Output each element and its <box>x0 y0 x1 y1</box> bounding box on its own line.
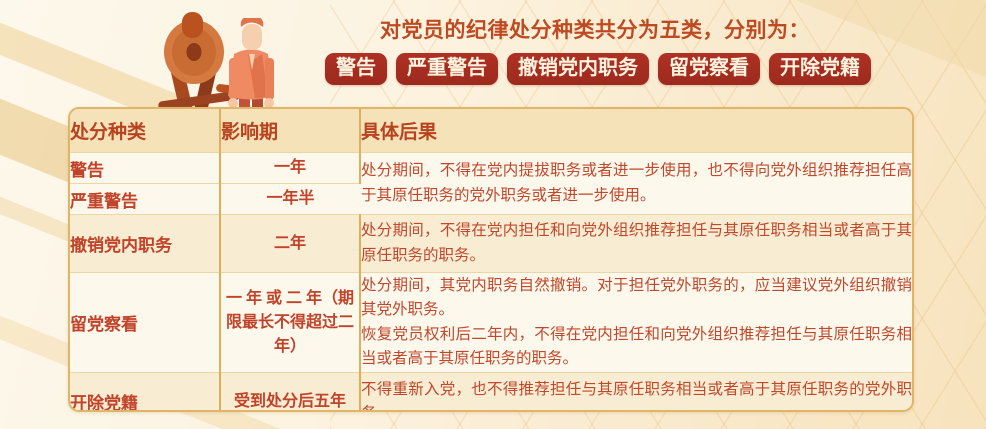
cell-period-revoke-post: 二年 <box>220 215 360 273</box>
cell-period-expulsion: 受到处分后五年 <box>220 373 360 413</box>
cell-type-probation: 留党察看 <box>70 273 220 373</box>
table-row-expulsion: 开除党籍 受到处分后五年 不得重新入党，也不得推荐担任与其原任职务相当或者高于其… <box>70 373 912 413</box>
table-row-revoke-post: 撤销党内职务 二年 处分期间，不得在党内担任和向党外组织推荐担任与其原任职务相当… <box>70 215 912 273</box>
cell-period-serious-warning: 一年半 <box>220 184 360 215</box>
page-title: 对党员的纪律处分种类共分为五类，分别为： <box>380 14 980 44</box>
cell-consequence-expulsion: 不得重新入党，也不得推荐担任与其原任职务相当或者高于其原任职务的党外职务。 <box>360 373 912 413</box>
category-badge-row: 警告 严重警告 撤销党内职务 留党察看 开除党籍 <box>325 53 871 85</box>
badge-revoke-post: 撤销党内职务 <box>507 53 649 85</box>
consequence-text: 处分期间，不得在党内提拔职务或者进一步使用，也不得向党外组织推荐担任高于其原任职… <box>361 159 912 207</box>
cell-period-probation: 一 年 或 二 年（期限最长不得超过二年） <box>220 273 360 373</box>
consequence-text: 不得重新入党，也不得推荐担任与其原任职务相当或者高于其原任职务的党外职务。 <box>361 378 912 412</box>
column-header-type: 处分种类 <box>70 109 220 153</box>
discipline-table: 处分种类 影响期 具体后果 警告 一年 处分期间，不得在党内提拔职务或者进一步使… <box>68 107 914 412</box>
cell-type-serious-warning: 严重警告 <box>70 184 220 215</box>
table-row-warning: 警告 一年 处分期间，不得在党内提拔职务或者进一步使用，也不得向党外组织推荐担任… <box>70 153 912 184</box>
cell-type-warning: 警告 <box>70 153 220 184</box>
badge-serious-warning: 严重警告 <box>396 53 498 85</box>
consequence-text: 处分期间，不得在党内担任和向党外组织推荐担任与其原任职务相当或者高于其原任职务的… <box>361 219 912 267</box>
badge-probation: 留党察看 <box>658 53 760 85</box>
column-header-consequence: 具体后果 <box>360 109 912 153</box>
consequence-text-part1: 处分期间，其党内职务自然撤销。对于担任党外职务的，应当建议党外组织撤销其党外职务… <box>361 274 912 322</box>
cell-consequence-probation: 处分期间，其党内职务自然撤销。对于担任党外职务的，应当建议党外组织撤销其党外职务… <box>360 273 912 373</box>
cell-type-revoke-post: 撤销党内职务 <box>70 215 220 273</box>
cell-consequence-revoke-post: 处分期间，不得在党内担任和向党外组织推荐担任与其原任职务相当或者高于其原任职务的… <box>360 215 912 273</box>
column-header-period: 影响期 <box>220 109 360 153</box>
table-row-probation: 留党察看 一 年 或 二 年（期限最长不得超过二年） 处分期间，其党内职务自然撤… <box>70 273 912 373</box>
table-header-row: 处分种类 影响期 具体后果 <box>70 109 912 153</box>
cell-period-warning: 一年 <box>220 153 360 184</box>
consequence-text-part2: 恢复党员权利后二年内，不得在党内担任和向党外组织推荐担任与其原任职务相当或者高于… <box>361 323 912 371</box>
infographic-canvas: 对党员的纪律处分种类共分为五类，分别为： 警告 严重警告 撤销党内职务 留党察看… <box>0 0 986 429</box>
badge-expulsion: 开除党籍 <box>769 53 871 85</box>
badge-warning: 警告 <box>325 53 387 85</box>
cell-consequence-warning-group: 处分期间，不得在党内提拔职务或者进一步使用，也不得向党外组织推荐担任高于其原任职… <box>360 153 912 215</box>
cell-type-expulsion: 开除党籍 <box>70 373 220 413</box>
